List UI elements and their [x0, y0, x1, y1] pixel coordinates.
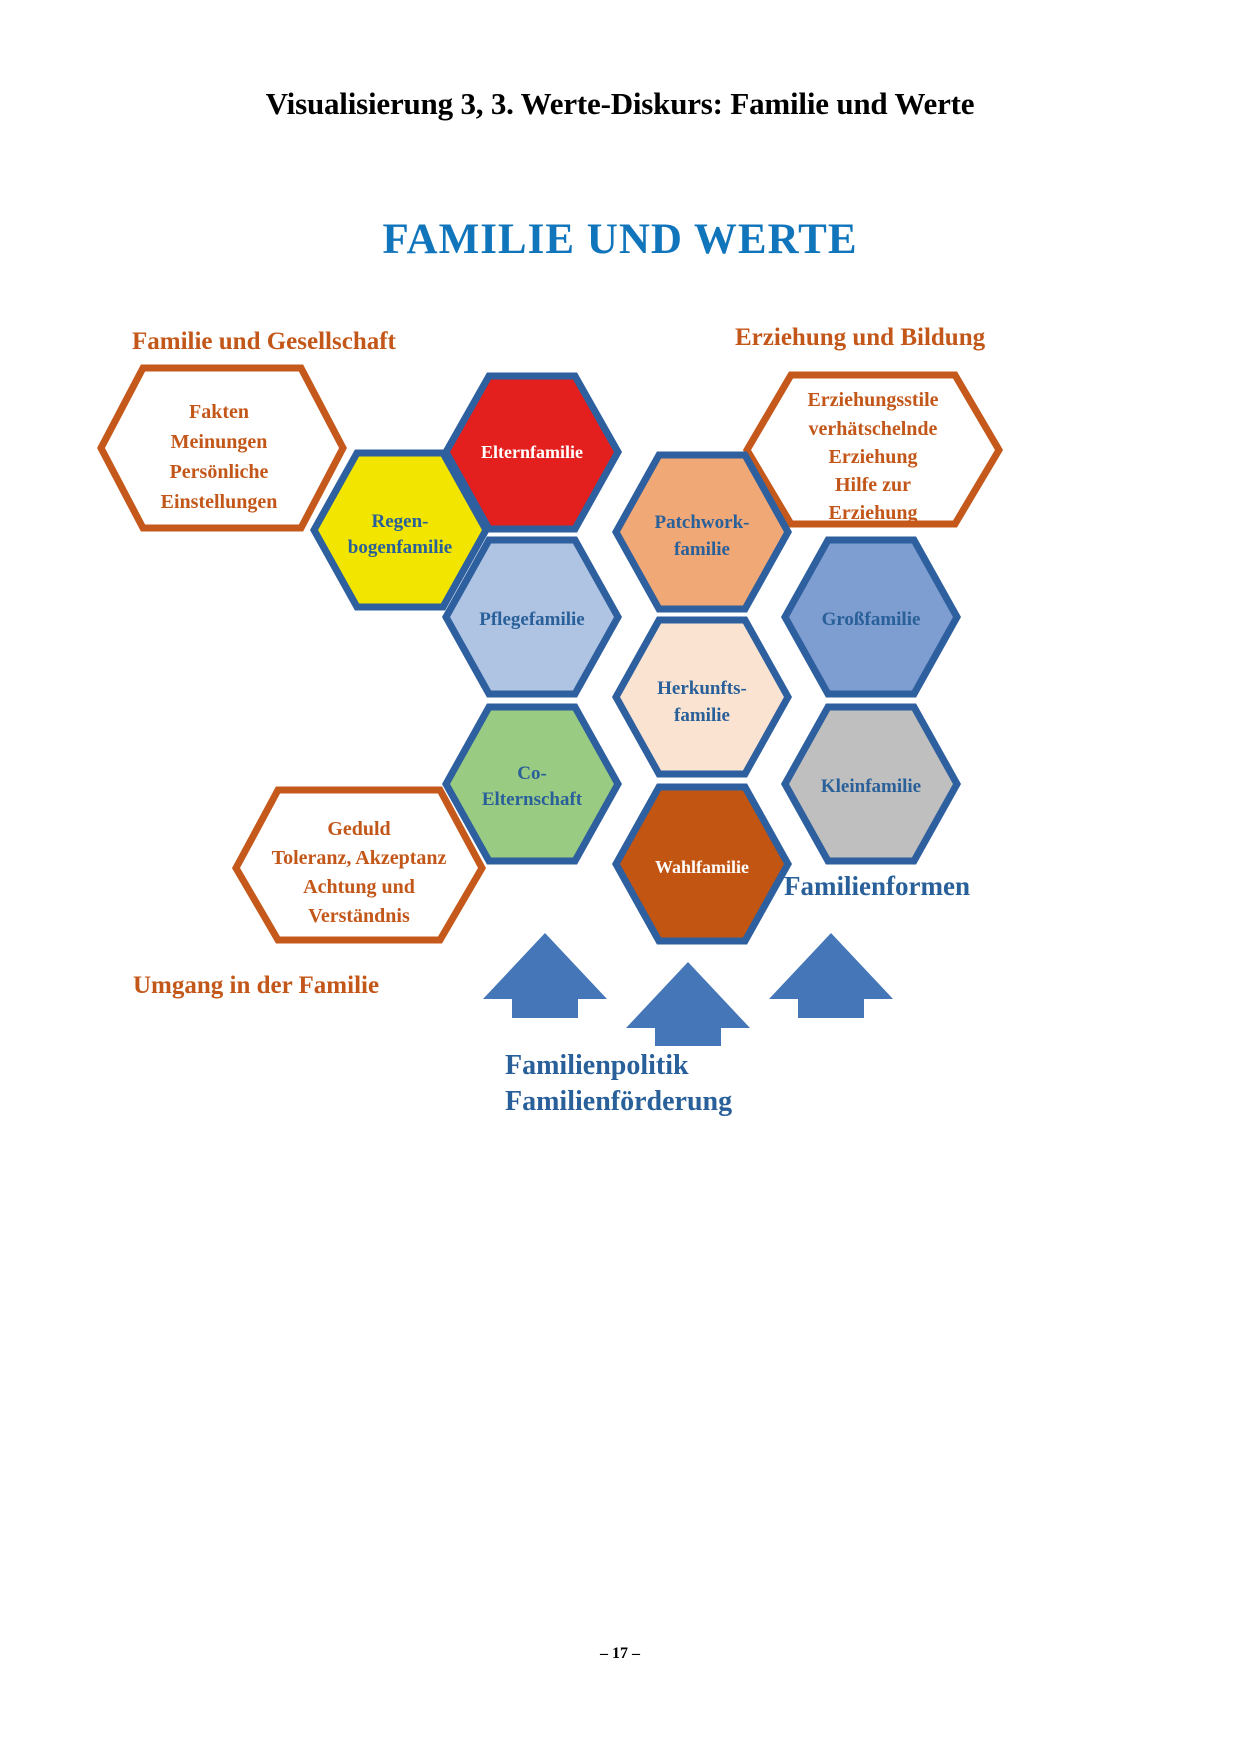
hex-label-line: familie — [674, 705, 730, 726]
outline-hex-line: Einstellungen — [161, 491, 278, 513]
outline-hex-line: Erziehungsstile — [807, 389, 938, 411]
category-label-familie-und-gesellschaft: Familie und Gesellschaft — [132, 328, 396, 356]
category-label-umgang-in-der-familie: Umgang in der Familie — [133, 972, 379, 1000]
hex-label-line: Großfamilie — [822, 609, 921, 630]
hex-label-line: Wahlfamilie — [655, 857, 749, 877]
arrow-up-icon — [626, 962, 750, 1046]
category-label-familienpolitik: Familienpolitik Familienförderung — [505, 1048, 845, 1120]
arrow-up-left — [483, 933, 607, 1018]
arrow-up-icon — [483, 933, 607, 1018]
outline-hex-line: Verständnis — [308, 905, 410, 927]
outline-hex-line: verhätschelnde — [809, 418, 938, 440]
arrow-up-icon — [769, 933, 893, 1018]
hex-pflegefamilie[interactable]: Pflegefamilie — [446, 540, 618, 694]
hex-label-line: Elternschaft — [482, 789, 583, 810]
hex-label-line: Herkunfts- — [657, 678, 747, 699]
outline-hex-line: Erziehung — [829, 502, 918, 524]
outline-hex-umgang-familie: Geduld Toleranz, Akzeptanz Achtung und V… — [236, 790, 482, 940]
hex-label-line: familie — [674, 539, 730, 560]
arrow-up-right — [769, 933, 893, 1018]
outline-hex-familie-gesellschaft: Fakten Meinungen Persönliche Einstellung… — [101, 368, 343, 528]
hex-kleinfamilie[interactable]: Kleinfamilie — [785, 707, 957, 861]
outline-hex-line: Meinungen — [171, 431, 268, 453]
outline-hex-erziehung-bildung: Erziehungsstile verhätschelnde Erziehung… — [747, 375, 999, 524]
outline-hex-line: Achtung und — [303, 876, 415, 898]
outline-hex-line: Toleranz, Akzeptanz — [272, 847, 447, 869]
category-label-familienformen: Familienformen — [784, 871, 970, 902]
outline-hex-line: Erziehung — [829, 446, 918, 468]
hex-label-line: Co- — [517, 763, 547, 784]
hex-shape[interactable] — [446, 707, 618, 861]
category-label-familienfoerderung-line2: Familienförderung — [505, 1084, 845, 1120]
outline-hex-line: Fakten — [189, 401, 249, 423]
outline-hex-line: Geduld — [327, 818, 390, 840]
arrow-up-center — [626, 962, 750, 1046]
hex-label-line: Patchwork- — [655, 512, 750, 533]
outline-hex-line: Hilfe zur — [835, 474, 911, 496]
hex-label-line: bogenfamilie — [348, 537, 453, 558]
hex-herkunftsfamilie[interactable]: Herkunfts- familie — [616, 620, 788, 774]
hex-label-line: Kleinfamilie — [821, 776, 921, 797]
category-label-erziehung-und-bildung: Erziehung und Bildung — [735, 324, 985, 352]
family-values-hexagon-diagram: Fakten Meinungen Persönliche Einstellung… — [0, 0, 1240, 1753]
outline-hex-line: Persönliche — [170, 461, 269, 483]
category-label-familienpolitik-line1: Familienpolitik — [505, 1048, 845, 1084]
hex-wahlfamilie[interactable]: Wahlfamilie — [616, 787, 788, 941]
hex-co-elternschaft[interactable]: Co- Elternschaft — [446, 707, 618, 861]
hex-label-line: Regen- — [372, 511, 429, 532]
page-number: – 17 – — [0, 1645, 1240, 1663]
hex-grossfamilie[interactable]: Großfamilie — [785, 540, 957, 694]
hex-label-line: Elternfamilie — [481, 442, 583, 462]
hex-label-line: Pflegefamilie — [479, 609, 585, 630]
